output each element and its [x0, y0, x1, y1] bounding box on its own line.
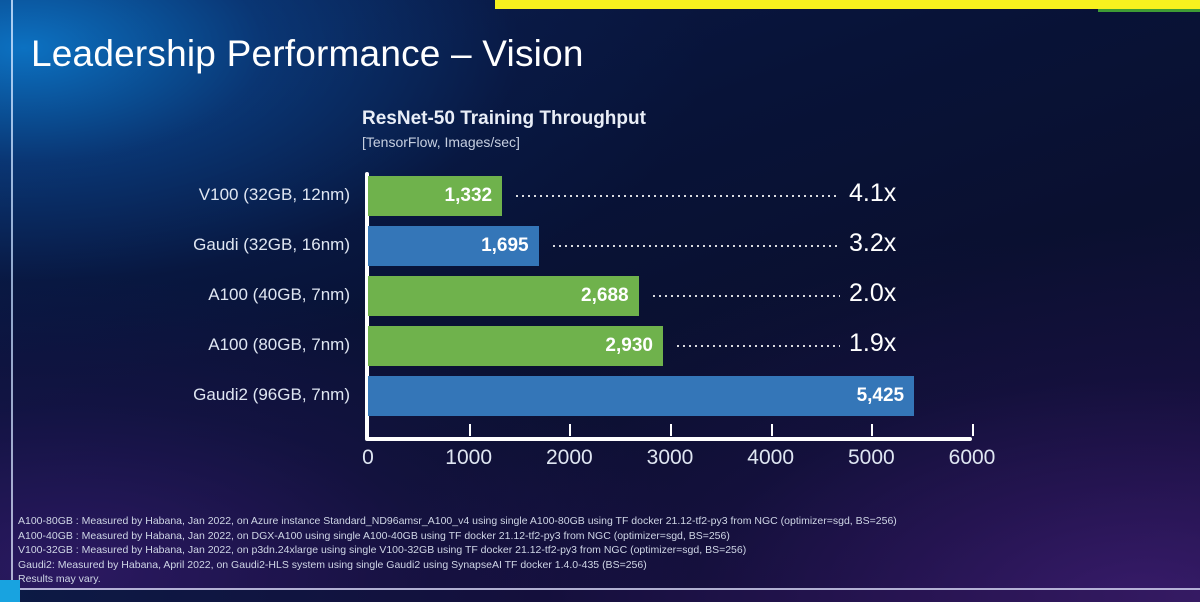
x-axis-tick-label: 1000 [445, 446, 492, 470]
x-axis-tick-label: 5000 [848, 446, 895, 470]
leader-dotted-line [675, 345, 840, 347]
leader-dotted-line [651, 295, 840, 297]
x-axis-tick [871, 424, 873, 436]
x-axis-tick [469, 424, 471, 436]
footnote-line: A100-40GB : Measured by Habana, Jan 2022… [18, 529, 1178, 544]
bar-category-label: A100 (40GB, 7nm) [90, 285, 350, 305]
footnote-line: Gaudi2: Measured by Habana, April 2022, … [18, 558, 1178, 573]
x-axis-tick-label: 2000 [546, 446, 593, 470]
bottom-divider [12, 588, 1200, 590]
leader-dotted-line [514, 195, 840, 197]
bar-value-label: 1,695 [481, 235, 529, 257]
bar-category-label: Gaudi (32GB, 16nm) [90, 235, 350, 255]
bar-category-label: Gaudi2 (96GB, 7nm) [90, 385, 350, 405]
bar-value-label: 5,425 [857, 385, 905, 407]
bar-chart: ResNet-50 Training Throughput [TensorFlo… [0, 0, 1200, 500]
bar-category-label: A100 (80GB, 7nm) [90, 335, 350, 355]
bar-value-label: 1,332 [445, 185, 493, 207]
chart-subtitle: [TensorFlow, Images/sec] [362, 134, 520, 150]
bar: 1,695 [368, 226, 539, 266]
x-axis-tick-label: 6000 [949, 446, 996, 470]
footnote-line: Results may vary. [18, 572, 1178, 587]
bar: 2,688 [368, 276, 639, 316]
footnotes-block: A100-80GB : Measured by Habana, Jan 2022… [18, 514, 1178, 587]
x-axis-tick-label: 3000 [647, 446, 694, 470]
bar-category-label: V100 (32GB, 12nm) [90, 185, 350, 205]
speedup-annotation: 3.2x [849, 229, 896, 258]
speedup-annotation: 1.9x [849, 329, 896, 358]
bar: 1,332 [368, 176, 502, 216]
speedup-annotation: 2.0x [849, 279, 896, 308]
bar-value-label: 2,930 [605, 335, 653, 357]
bar-value-label: 2,688 [581, 285, 629, 307]
bar-row: Gaudi (32GB, 16nm)1,6953.2x [0, 226, 1200, 276]
chart-title: ResNet-50 Training Throughput [362, 108, 646, 130]
bar-row: A100 (40GB, 7nm)2,6882.0x [0, 276, 1200, 326]
x-axis-tick-label: 4000 [747, 446, 794, 470]
bar-row: V100 (32GB, 12nm)1,3324.1x [0, 176, 1200, 226]
bar: 5,425 [368, 376, 914, 416]
bar-row: Gaudi2 (96GB, 7nm)5,425 [0, 376, 1200, 426]
leader-dotted-line [551, 245, 840, 247]
x-axis-tick [569, 424, 571, 436]
x-axis-tick [670, 424, 672, 436]
footnote-line: A100-80GB : Measured by Habana, Jan 2022… [18, 514, 1178, 529]
slide-canvas: Leadership Performance – Vision ResNet-5… [0, 0, 1200, 602]
x-axis-tick [771, 424, 773, 436]
x-axis-line [365, 437, 972, 441]
bottom-left-cyan-tab [0, 580, 20, 602]
speedup-annotation: 4.1x [849, 179, 896, 208]
bar: 2,930 [368, 326, 663, 366]
x-axis-tick [972, 424, 974, 436]
bar-row: A100 (80GB, 7nm)2,9301.9x [0, 326, 1200, 376]
footnote-line: V100-32GB : Measured by Habana, Jan 2022… [18, 543, 1178, 558]
x-axis-tick-label: 0 [362, 446, 374, 470]
bottom-strip [0, 590, 1200, 602]
